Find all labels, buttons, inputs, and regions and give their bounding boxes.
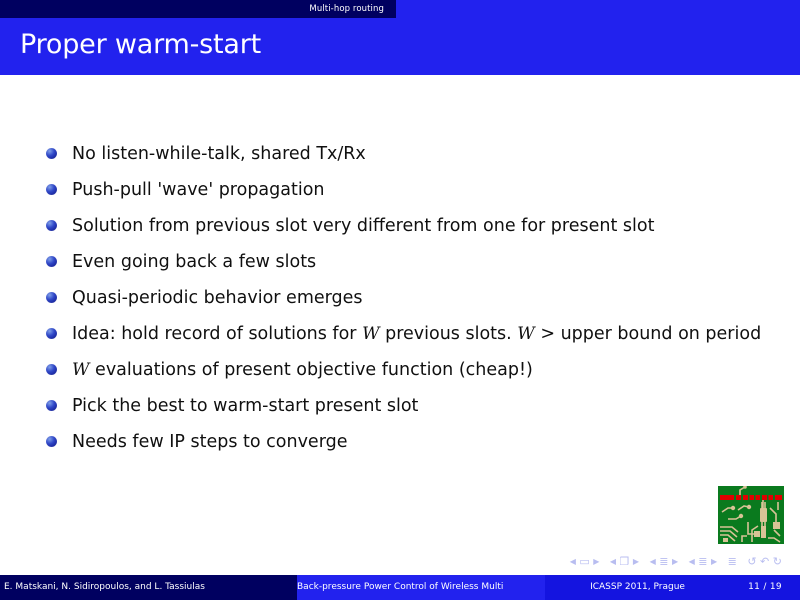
list-item-text-mid: previous slots. — [380, 324, 518, 344]
bullet-dot-icon — [46, 148, 57, 159]
list-item: Solution from previous slot very differe… — [44, 215, 784, 238]
list-item: Needs few IP steps to converge — [44, 431, 784, 454]
math-variable-w: W — [72, 360, 89, 380]
list-item-text: Solution from previous slot very differe… — [72, 216, 654, 236]
list-item: Pick the best to warm-start present slot — [44, 395, 784, 418]
list-item-text-post: > upper bound on period — [535, 324, 761, 344]
list-item-text: No listen-while-talk, shared Tx/Rx — [72, 144, 366, 164]
list-item: Quasi-periodic behavior emerges — [44, 287, 784, 310]
circuit-board-logo — [718, 486, 784, 544]
list-item-text: Even going back a few slots — [72, 252, 316, 272]
nav-group-slide[interactable]: ◀ ▭ ▶ — [570, 555, 600, 568]
list-item-text: Needs few IP steps to converge — [72, 432, 347, 452]
bullet-dot-icon — [46, 364, 57, 375]
nav-toc-icon[interactable]: ≣ — [728, 555, 737, 568]
footer-authors: E. Matskani, N. Sidiropoulos, and L. Tas… — [0, 575, 297, 600]
list-item: W evaluations of present objective funct… — [44, 359, 784, 382]
list-item-text: Idea: hold record of solutions for — [72, 324, 362, 344]
math-variable-w: W — [362, 324, 379, 344]
footer-page-number: 11 / 19 — [730, 575, 800, 600]
bullet-list: No listen-while-talk, shared Tx/Rx Push-… — [44, 143, 784, 467]
nav-group-section[interactable]: ◀ ≣ ▶ — [689, 555, 718, 568]
bullet-dot-icon — [46, 184, 57, 195]
section-tab-label: Multi-hop routing — [0, 0, 390, 18]
page-title: Proper warm-start — [20, 29, 261, 60]
nav-group-subsection[interactable]: ◀ ≣ ▶ — [650, 555, 679, 568]
section-nav-bar: Multi-hop routing — [0, 0, 800, 18]
bullet-dot-icon — [46, 220, 57, 231]
footer-venue: ICASSP 2011, Prague — [545, 575, 730, 600]
list-item-text: Quasi-periodic behavior emerges — [72, 288, 363, 308]
list-item: Idea: hold record of solutions for W pre… — [44, 323, 784, 346]
list-item-text-post: evaluations of present objective functio… — [89, 360, 532, 380]
section-tab-active[interactable]: Multi-hop routing — [0, 0, 396, 18]
bullet-dot-icon — [46, 292, 57, 303]
bullet-dot-icon — [46, 328, 57, 339]
footer-paper-title: Back-pressure Power Control of Wireless … — [297, 575, 545, 600]
list-item: Even going back a few slots — [44, 251, 784, 274]
slide-content: No listen-while-talk, shared Tx/Rx Push-… — [0, 75, 800, 545]
nav-group-frame[interactable]: ◀ ❐ ▶ — [610, 555, 639, 568]
list-item-text: Push-pull 'wave' propagation — [72, 180, 325, 200]
list-item: Push-pull 'wave' propagation — [44, 179, 784, 202]
bullet-dot-icon — [46, 256, 57, 267]
beamer-navigation-symbols[interactable]: ◀ ▭ ▶ ◀ ❐ ▶ ◀ ≣ ▶ ◀ ≣ ▶ ≣ ↺ ↶ ↻ — [0, 553, 800, 571]
footer-bar: E. Matskani, N. Sidiropoulos, and L. Tas… — [0, 575, 800, 600]
list-item-text: Pick the best to warm-start present slot — [72, 396, 418, 416]
list-item: No listen-while-talk, shared Tx/Rx — [44, 143, 784, 166]
math-variable-w: W — [517, 324, 534, 344]
nav-back-forward-icons[interactable]: ↺ ↶ ↻ — [747, 555, 782, 568]
bullet-dot-icon — [46, 400, 57, 411]
bullet-dot-icon — [46, 436, 57, 447]
